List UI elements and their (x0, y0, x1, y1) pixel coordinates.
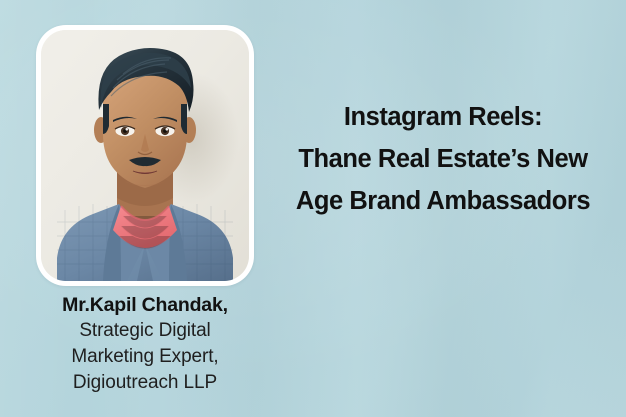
headline-line-1: Instagram Reels: (268, 96, 618, 138)
article-banner: Mr.Kapil Chandak, Strategic Digital Mark… (0, 0, 626, 417)
portrait-frame (36, 25, 254, 286)
speaker-title-line-1: Strategic Digital (8, 318, 282, 344)
headline-line-2: Thane Real Estate’s New (268, 138, 618, 180)
speaker-name: Mr.Kapil Chandak, (8, 292, 282, 318)
banner-headline: Instagram Reels: Thane Real Estate’s New… (268, 96, 618, 222)
speaker-caption: Mr.Kapil Chandak, Strategic Digital Mark… (8, 292, 282, 396)
portrait-illustration (41, 30, 249, 281)
headline-line-3: Age Brand Ambassadors (268, 180, 618, 222)
speaker-title-line-2: Marketing Expert, (8, 344, 282, 370)
portrait-photo (41, 30, 249, 281)
speaker-company: Digioutreach LLP (8, 370, 282, 396)
